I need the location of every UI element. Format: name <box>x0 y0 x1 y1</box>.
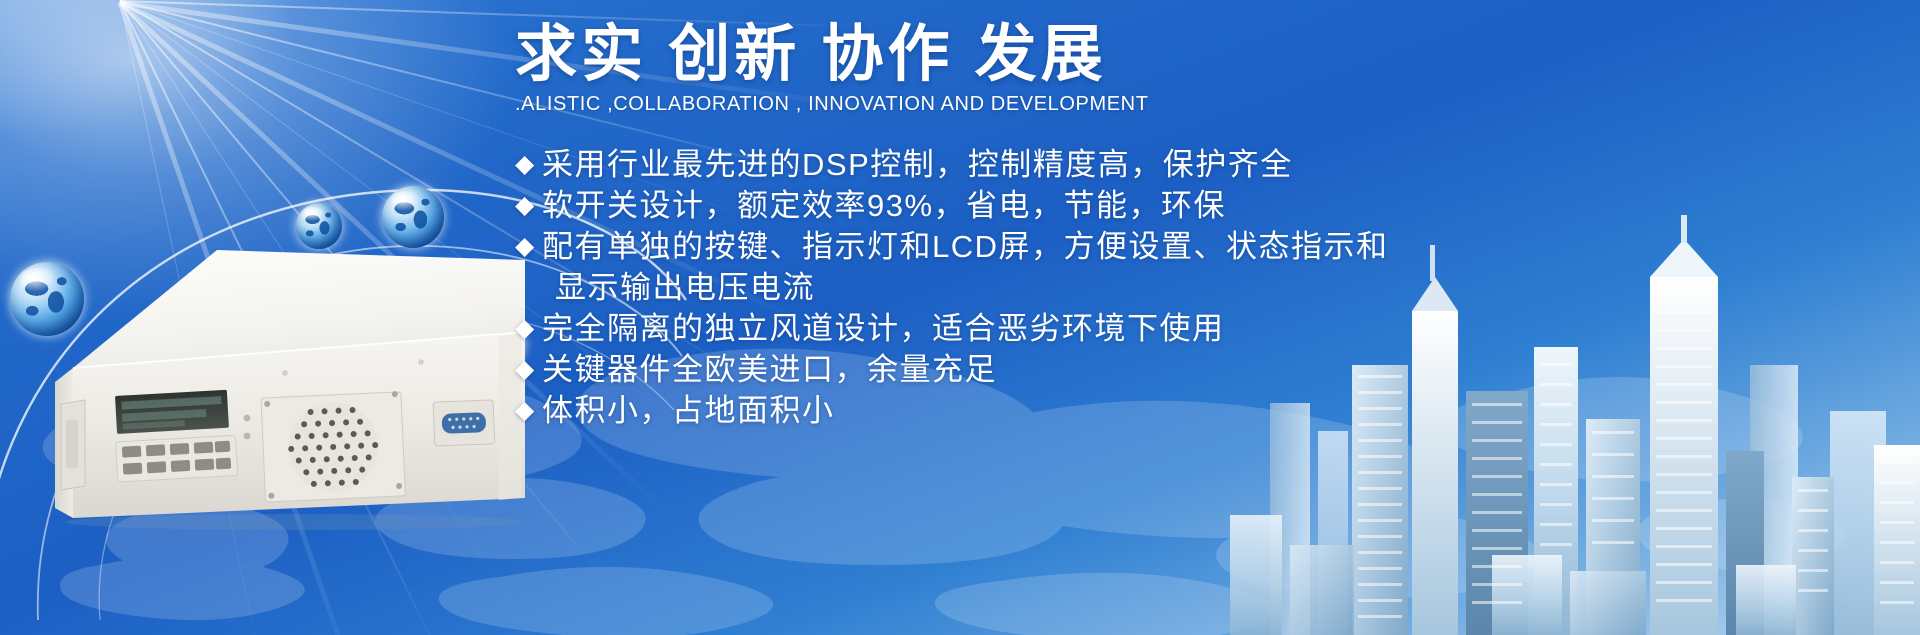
diamond-bullet-icon: ◆ <box>515 144 542 185</box>
diamond-bullet-icon: ◆ <box>515 349 542 390</box>
diamond-bullet-icon: ◆ <box>515 390 542 431</box>
list-item-label: 采用行业最先进的DSP控制，控制精度高，保护齐全 <box>542 144 1905 185</box>
list-item-label: 完全隔离的独立风道设计，适合恶劣环境下使用 <box>542 308 1905 349</box>
list-item: ◆ 配有单独的按键、指示灯和LCD屏，方便设置、状态指示和 <box>515 226 1905 267</box>
power-supply-device <box>55 250 525 530</box>
list-item-label: 配有单独的按键、指示灯和LCD屏，方便设置、状态指示和 <box>542 226 1905 267</box>
list-item: ◆ 关键器件全欧美进口，余量充足 <box>515 349 1905 390</box>
list-item: ◆ 采用行业最先进的DSP控制，控制精度高，保护齐全 <box>515 144 1905 185</box>
list-item: ◆ 完全隔离的独立风道设计，适合恶劣环境下使用 <box>515 308 1905 349</box>
diamond-bullet-icon: ◆ <box>515 185 542 226</box>
banner-text-block: 求实 创新 协作 发展 .ALISTIC ,COLLABORATION , IN… <box>515 18 1905 431</box>
list-item: ◆ 体积小，占地面积小 <box>515 390 1905 431</box>
list-item-label: 显示输出电压电流 <box>542 267 1905 308</box>
diamond-bullet-icon: ◆ <box>515 308 542 349</box>
list-item-continuation: 显示输出电压电流 <box>515 267 1905 308</box>
promo-banner: 求实 创新 协作 发展 .ALISTIC ,COLLABORATION , IN… <box>0 0 1920 635</box>
diamond-bullet-icon: ◆ <box>515 226 542 267</box>
page-title: 求实 创新 协作 发展 <box>515 18 1905 91</box>
list-item-label: 关键器件全欧美进口，余量充足 <box>542 349 1905 390</box>
list-item: ◆ 软开关设计，额定效率93%，省电，节能，环保 <box>515 185 1905 226</box>
feature-list: ◆ 采用行业最先进的DSP控制，控制精度高，保护齐全 ◆ 软开关设计，额定效率9… <box>515 144 1905 431</box>
list-item-label: 软开关设计，额定效率93%，省电，节能，环保 <box>542 185 1905 226</box>
globe-icon <box>382 186 444 248</box>
globe-icon <box>296 203 342 249</box>
subtitle: .ALISTIC ,COLLABORATION , INNOVATION AND… <box>515 93 1905 116</box>
list-item-label: 体积小，占地面积小 <box>542 390 1905 431</box>
